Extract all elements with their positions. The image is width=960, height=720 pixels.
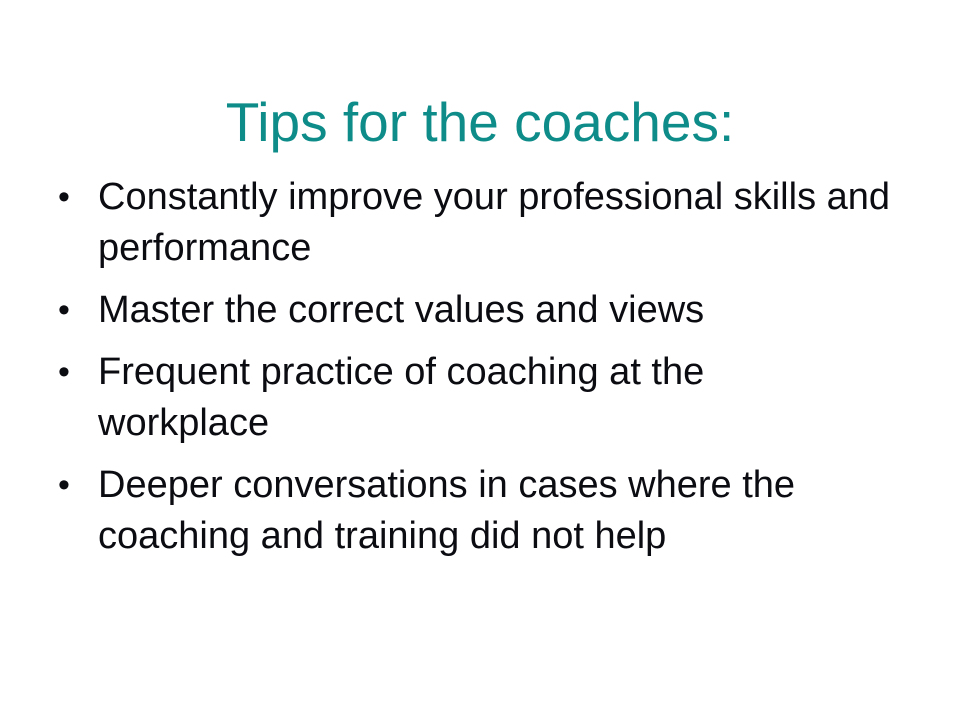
bullet-item: • Frequent practice of coaching at the w…	[48, 347, 928, 449]
bullet-item: • Master the correct values and views	[48, 285, 928, 336]
bullet-item-text: Frequent practice of coaching at the wor…	[98, 347, 788, 449]
presentation-slide: Tips for the coaches: • Constantly impro…	[0, 0, 960, 720]
bullet-point-icon: •	[58, 285, 82, 336]
bullet-point-icon: •	[58, 460, 82, 511]
bullet-point-icon: •	[58, 172, 82, 223]
bullet-item-text: Deeper conversations in cases where the …	[98, 460, 888, 562]
bullet-item: • Constantly improve your professional s…	[48, 172, 928, 274]
bullet-item-text: Constantly improve your professional ski…	[98, 172, 910, 274]
bullet-point-icon: •	[58, 347, 82, 398]
bullet-item-text: Master the correct values and views	[98, 285, 918, 336]
bullet-item: • Deeper conversations in cases where th…	[48, 460, 928, 562]
bullet-list: • Constantly improve your professional s…	[48, 172, 928, 562]
slide-title: Tips for the coaches:	[0, 91, 960, 153]
